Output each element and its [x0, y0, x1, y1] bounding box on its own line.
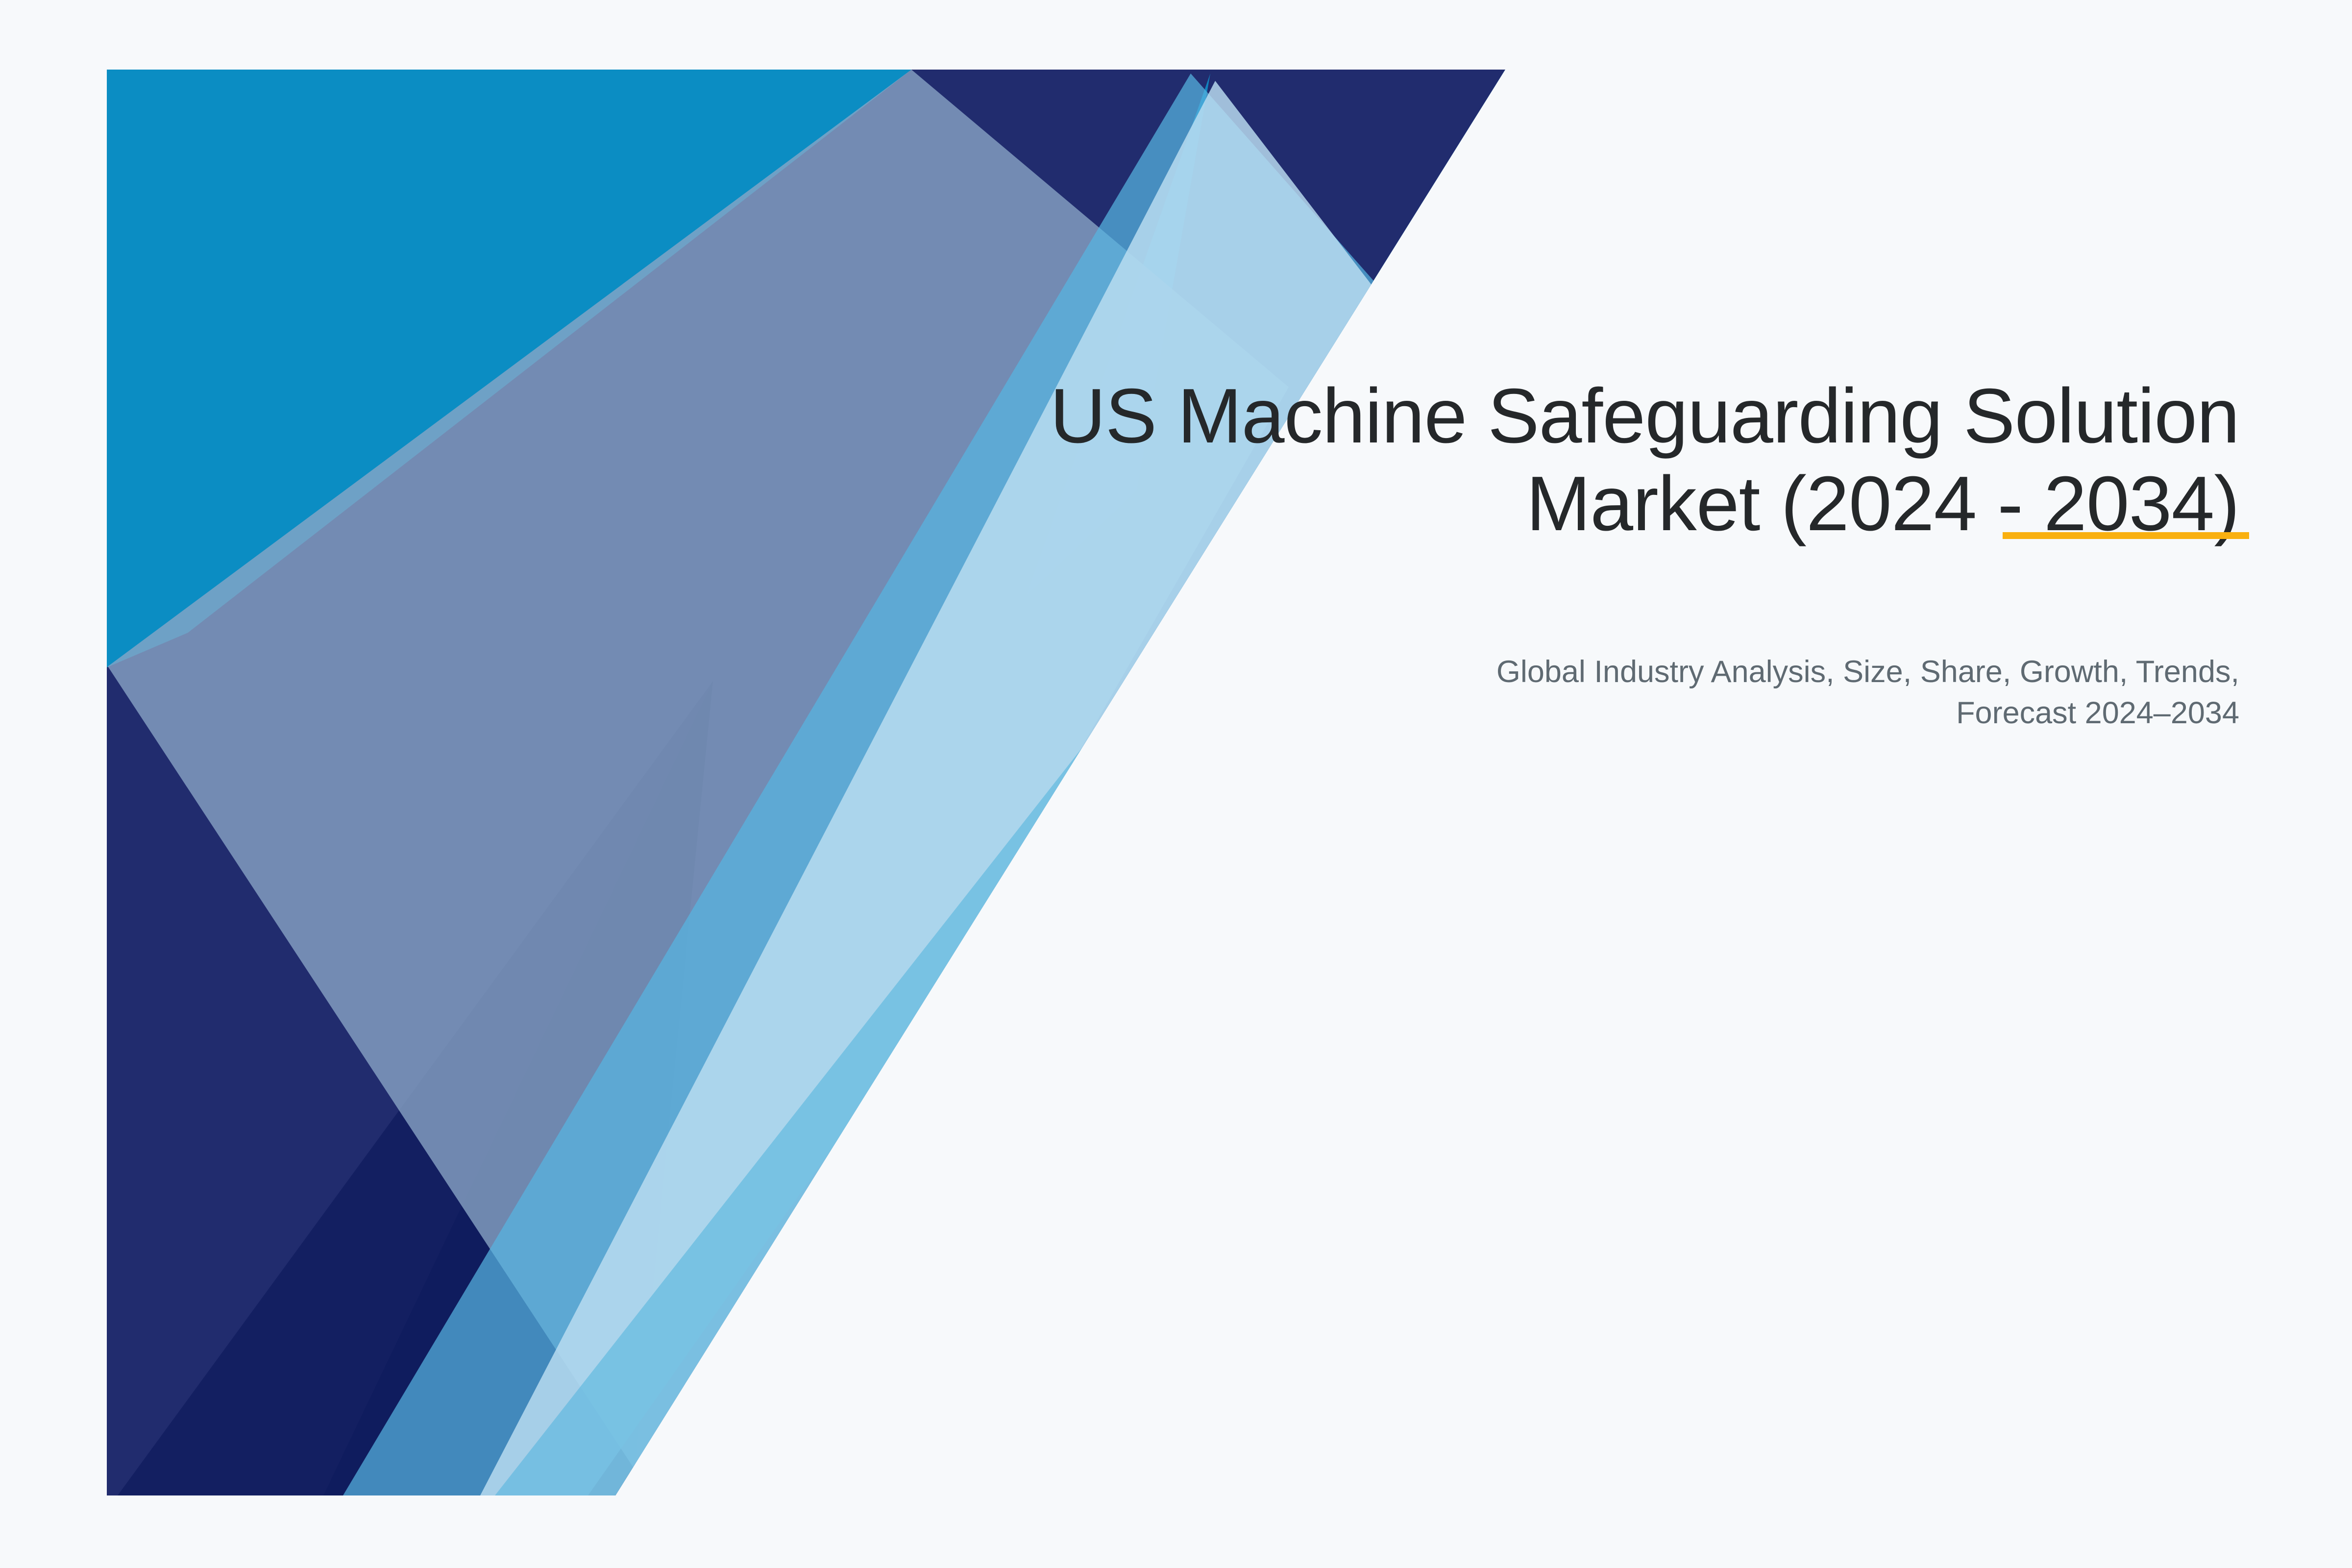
- report-cover-page: US Machine Safeguarding Solution Market …: [0, 0, 2352, 1568]
- subtitle-block: Global Industry Analysis, Size, Share, G…: [1421, 652, 2239, 734]
- shape-cyan-base: [107, 70, 1508, 1500]
- artwork-svg: [0, 0, 2352, 1568]
- shape-sky-band: [343, 73, 1411, 1495]
- shape-slate-quad: [108, 70, 1289, 1495]
- shape-navy-body: [107, 70, 1505, 1495]
- title-underline-accent: [2003, 532, 2249, 539]
- page-subtitle: Global Industry Analysis, Size, Share, G…: [1421, 652, 2239, 734]
- shape-pale-sky-band: [480, 81, 1416, 1495]
- page-title: US Machine Safeguarding Solution Market …: [862, 372, 2239, 547]
- artwork-shape-group: [107, 70, 1508, 1500]
- shape-deep-navy-triangle: [118, 681, 713, 1495]
- shape-deep-navy-spike: [323, 681, 713, 1495]
- shape-navy-wedge: [107, 70, 1505, 1495]
- shape-bright-sky-sliver: [495, 441, 1436, 1495]
- cover-artwork: [0, 0, 2352, 1568]
- title-block: US Machine Safeguarding Solution Market …: [862, 372, 2239, 547]
